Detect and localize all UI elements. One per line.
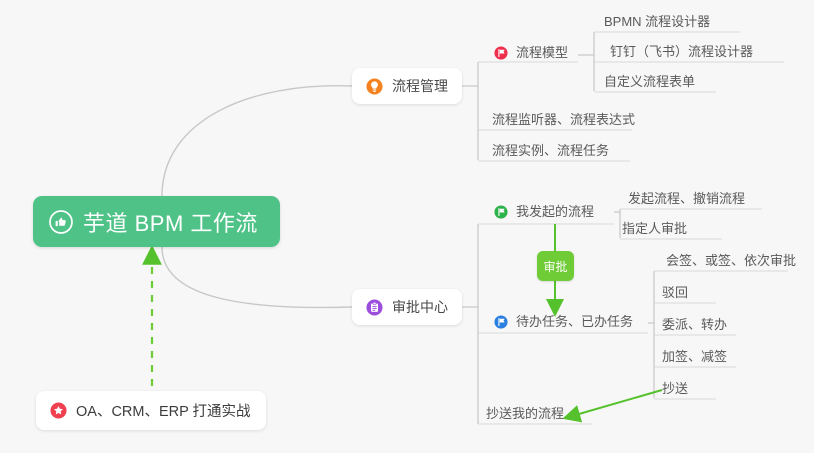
root-node[interactable]: 芋道 BPM 工作流 xyxy=(33,196,280,247)
leaf-node-my-started-flows[interactable]: 我发起的流程 xyxy=(494,203,594,221)
leaf-label-add-remove-sign: 加签、减签 xyxy=(662,348,727,366)
flag-icon xyxy=(494,46,508,60)
branch-label-flow-management: 流程管理 xyxy=(392,76,448,96)
mindmap-canvas: 芋道 BPM 工作流 流程管理 审批中心 xyxy=(0,0,814,453)
annotation-node-integration[interactable]: OA、CRM、ERP 打通实战 xyxy=(36,391,266,430)
lightbulb-icon xyxy=(366,78,383,95)
leaf-label-my-started-flows: 我发起的流程 xyxy=(516,203,594,221)
annotation-tag-approve-label: 审批 xyxy=(543,258,567,275)
leaf-label-reject: 驳回 xyxy=(662,284,688,302)
leaf-node-countersign[interactable]: 会签、或签、依次审批 xyxy=(666,252,796,270)
leaf-node-bpmn-designer[interactable]: BPMN 流程设计器 xyxy=(604,13,710,31)
leaf-node-dingtalk-feishu-designer[interactable]: 钉钉（飞书）流程设计器 xyxy=(610,43,753,61)
annotation-node-integration-label: OA、CRM、ERP 打通实战 xyxy=(76,400,251,421)
star-icon xyxy=(50,402,67,419)
leaf-node-carbon-copy[interactable]: 抄送 xyxy=(662,380,688,398)
leaf-label-start-cancel-flow: 发起流程、撤销流程 xyxy=(628,190,745,208)
leaf-node-cc-to-me-flows[interactable]: 抄送我的流程 xyxy=(486,405,564,423)
leaf-label-flow-instance-task: 流程实例、流程任务 xyxy=(492,142,609,160)
leaf-label-countersign: 会签、或签、依次审批 xyxy=(666,252,796,270)
thumbs-up-icon xyxy=(49,210,73,234)
leaf-node-start-cancel-flow[interactable]: 发起流程、撤销流程 xyxy=(628,190,745,208)
leaf-label-delegate-transfer: 委派、转办 xyxy=(662,316,727,334)
root-label: 芋道 BPM 工作流 xyxy=(83,206,258,238)
leaf-label-flow-listener-expression: 流程监听器、流程表达式 xyxy=(492,111,635,129)
leaf-label-carbon-copy: 抄送 xyxy=(662,380,688,398)
leaf-label-flow-model: 流程模型 xyxy=(516,44,568,62)
annotation-tag-approve[interactable]: 审批 xyxy=(537,251,574,281)
leaf-node-add-remove-sign[interactable]: 加签、减签 xyxy=(662,348,727,366)
leaf-node-custom-flow-form[interactable]: 自定义流程表单 xyxy=(604,73,695,91)
leaf-label-custom-flow-form: 自定义流程表单 xyxy=(604,73,695,91)
leaf-label-todo-done-tasks: 待办任务、已办任务 xyxy=(516,313,633,331)
leaf-label-assignee-approval: 指定人审批 xyxy=(622,220,687,238)
leaf-node-flow-instance-task[interactable]: 流程实例、流程任务 xyxy=(492,142,609,160)
leaf-node-assignee-approval[interactable]: 指定人审批 xyxy=(622,220,687,238)
leaf-node-flow-model[interactable]: 流程模型 xyxy=(494,44,568,62)
flag-icon xyxy=(494,315,508,329)
flag-icon xyxy=(494,205,508,219)
arrow-carbon-copy-to-cc-flows xyxy=(572,390,662,416)
leaf-node-delegate-transfer[interactable]: 委派、转办 xyxy=(662,316,727,334)
leaf-label-cc-to-me-flows: 抄送我的流程 xyxy=(486,405,564,423)
branch-node-approval-center[interactable]: 审批中心 xyxy=(352,289,462,325)
leaf-label-bpmn-designer: BPMN 流程设计器 xyxy=(604,13,710,31)
branch-label-approval-center: 审批中心 xyxy=(392,297,448,317)
leaf-label-dingtalk-feishu-designer: 钉钉（飞书）流程设计器 xyxy=(610,43,753,61)
branch-node-flow-management[interactable]: 流程管理 xyxy=(352,68,462,104)
leaf-node-flow-listener-expression[interactable]: 流程监听器、流程表达式 xyxy=(492,111,635,129)
clipboard-icon xyxy=(366,299,383,316)
edge-root-to-approval-center xyxy=(162,247,352,307)
edge-root-to-flow-management xyxy=(162,86,352,196)
leaf-node-reject[interactable]: 驳回 xyxy=(662,284,688,302)
leaf-node-todo-done-tasks[interactable]: 待办任务、已办任务 xyxy=(494,313,633,331)
